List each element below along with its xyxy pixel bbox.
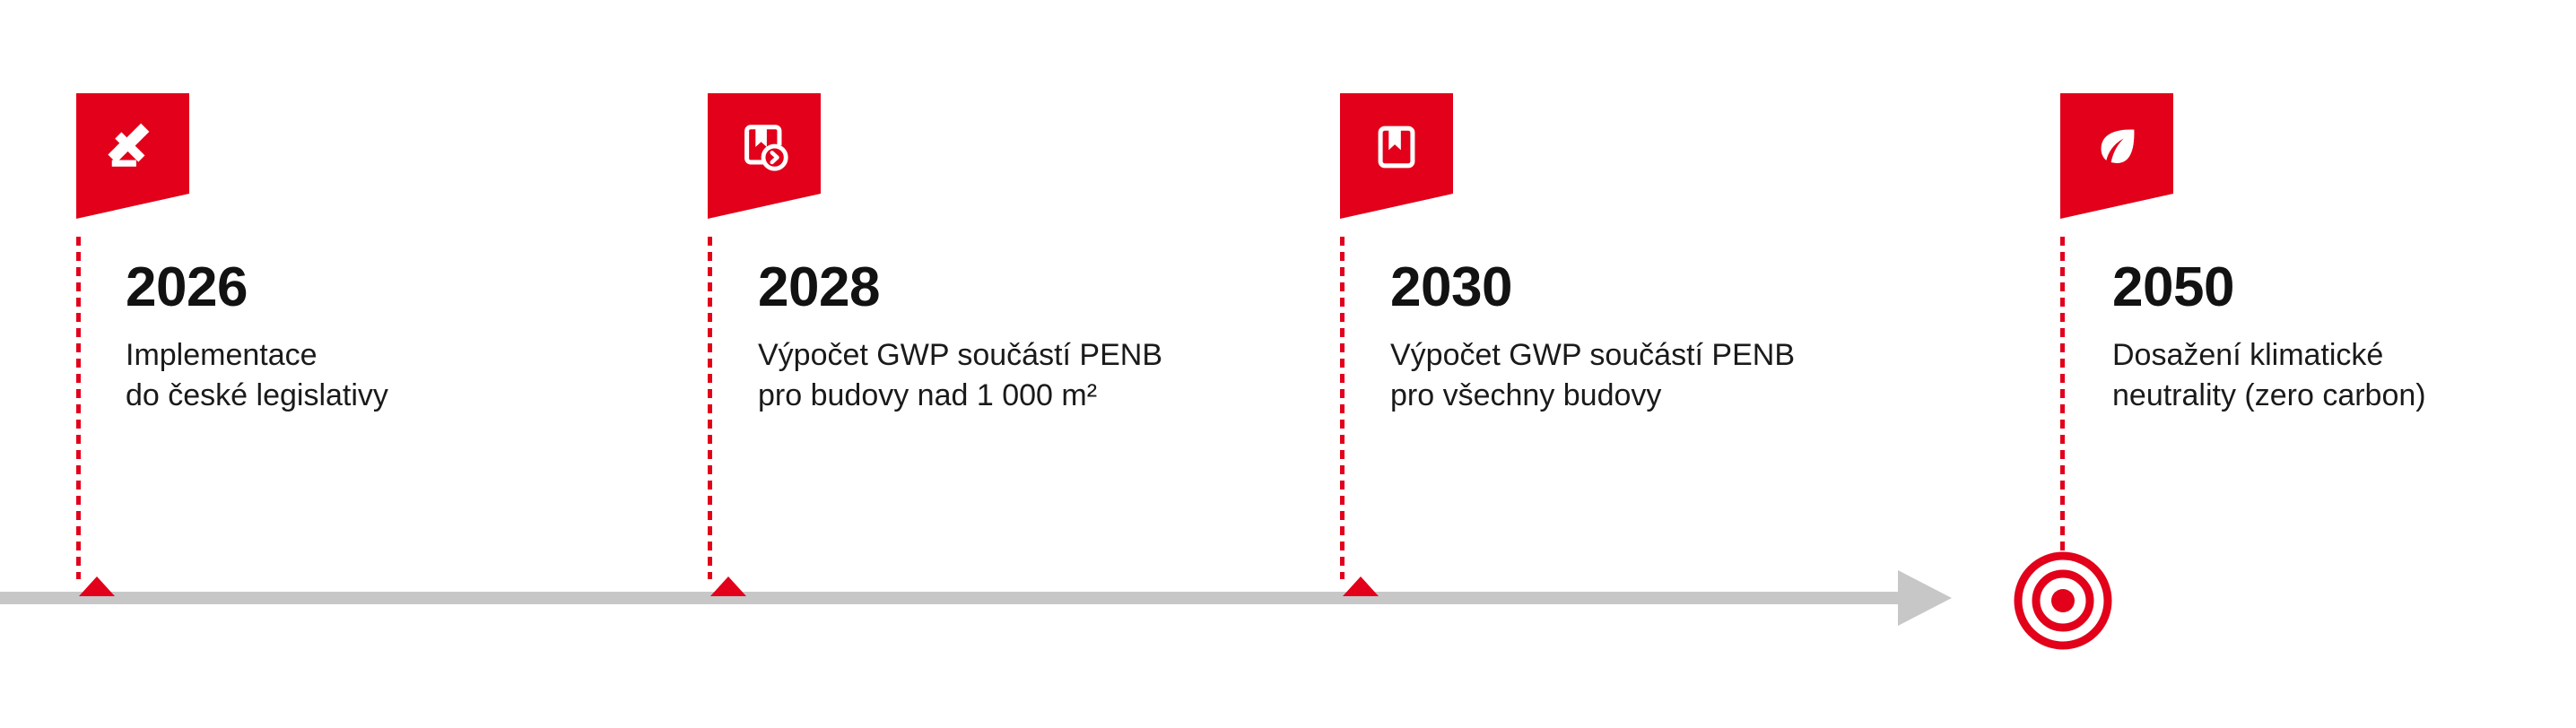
milestone-description: Výpočet GWP součástí PENB pro budovy nad… [758,335,1314,416]
milestone-year: 2026 [126,260,628,316]
milestone-connector-2030 [1340,237,1345,579]
timeline-axis-bar [0,592,1898,604]
milestone-description: Implementace do české legislativy [126,335,628,416]
milestone-connector-2028 [708,237,712,579]
gavel-icon [105,119,161,175]
book-forward-icon [736,119,792,175]
milestone-text-2026: 2026 Implementace do české legislativy [126,260,628,416]
timeline-arrow-icon [1898,570,1952,626]
milestone-connector-2050 [2060,237,2065,550]
milestone-flag-2050 [2060,93,2173,219]
milestone-text-2028: 2028 Výpočet GWP součástí PENB pro budov… [758,260,1314,416]
leaf-icon [2089,119,2145,175]
milestone-target-icon-2050 [2011,549,2115,653]
milestone-description: Výpočet GWP součástí PENB pro všechny bu… [1390,335,1946,416]
timeline-infographic: 2026 Implementace do české legislativy [0,0,2576,728]
milestone-text-2030: 2030 Výpočet GWP součástí PENB pro všech… [1390,260,1946,416]
milestone-text-2050: 2050 Dosažení klimatické neutrality (zer… [2112,260,2576,416]
milestone-connector-2026 [76,237,81,579]
milestone-description: Dosažení klimatické neutrality (zero car… [2112,335,2576,416]
milestone-year: 2030 [1390,260,1946,316]
milestone-flag-2026 [76,93,189,219]
book-bookmark-icon [1369,119,1424,175]
milestone-year: 2028 [758,260,1314,316]
milestone-year: 2050 [2112,260,2576,316]
milestone-flag-2028 [708,93,821,219]
milestone-flag-2030 [1340,93,1453,219]
